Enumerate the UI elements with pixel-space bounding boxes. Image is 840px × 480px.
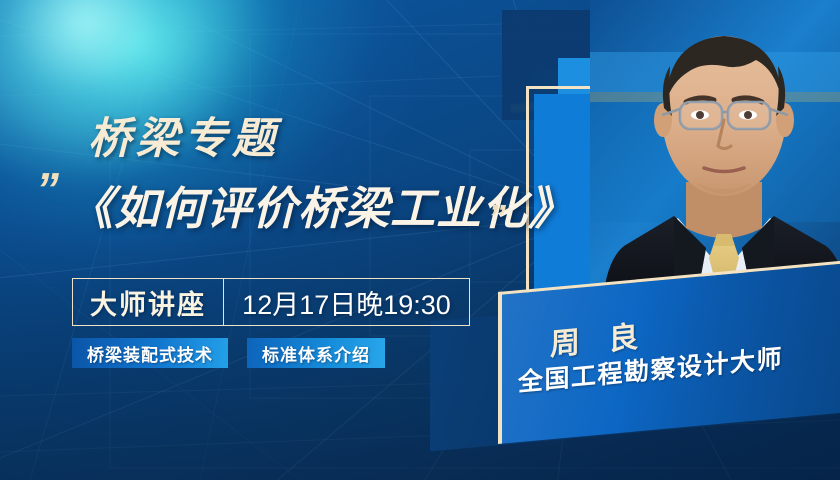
lecture-datetime: 12月17日晚19:30 xyxy=(242,283,451,322)
tag-chip-bridge-prefab[interactable]: 桥梁装配式技术 xyxy=(72,338,228,368)
lecture-label-cell: 大师讲座 xyxy=(73,279,224,325)
lecture-info-box: 大师讲座 12月17日晚19:30 xyxy=(72,278,470,326)
lecture-label: 大师讲座 xyxy=(90,283,206,322)
quote-close-icon: ” xyxy=(488,200,502,236)
tag-chip-list: 桥梁装配式技术 标准体系介绍 xyxy=(72,338,385,368)
lecture-datetime-cell: 12月17日晚19:30 xyxy=(224,279,469,325)
banner-sheen xyxy=(502,263,840,444)
lecture-poster: 周 良 全国工程勘察设计大师 桥梁专题 ” 《如何评价桥梁工业化》 ” 大师讲座… xyxy=(0,0,840,480)
poster-topic: 桥梁专题 xyxy=(88,104,280,166)
quote-open-icon: ” xyxy=(36,166,55,212)
tag-chip-standard-system[interactable]: 标准体系介绍 xyxy=(247,338,385,368)
speaker-name-banner xyxy=(498,260,840,444)
